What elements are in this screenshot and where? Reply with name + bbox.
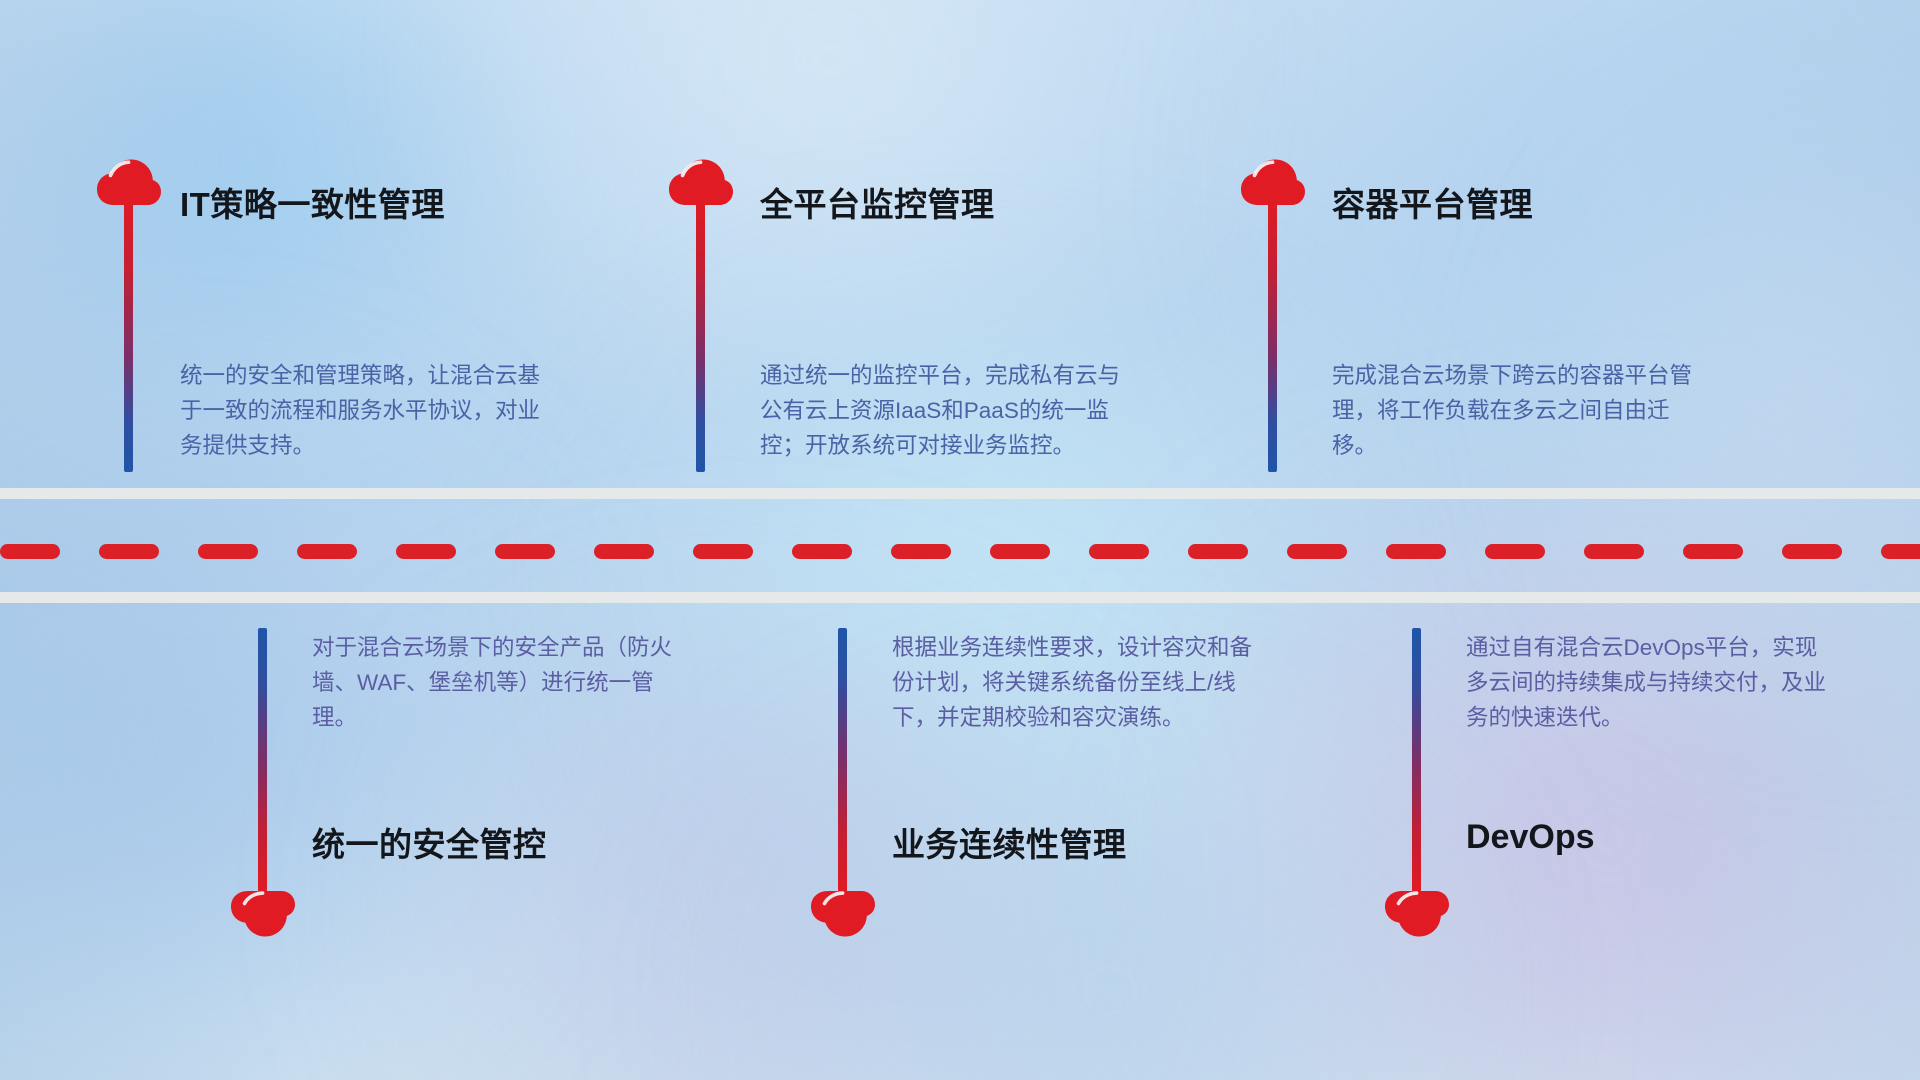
card-title: IT策略一致性管理 <box>180 178 445 226</box>
card-title: DevOps <box>1466 818 1595 857</box>
card-title: 统一的安全管控 <box>312 818 547 866</box>
connector-stem <box>1412 628 1421 892</box>
card-title: 容器平台管理 <box>1332 178 1533 226</box>
connector-stem <box>124 198 133 472</box>
card-body: 根据业务连续性要求，设计容灾和备份计划，将关键系统备份至线上/线下，并定期校验和… <box>892 630 1257 735</box>
connector-stem <box>258 628 267 892</box>
card-body: 通过统一的监控平台，完成私有云与公有云上资源IaaS和PaaS的统一监控；开放系… <box>760 358 1125 463</box>
connector-stem <box>838 628 847 892</box>
card-title: 业务连续性管理 <box>892 818 1127 866</box>
card-body: 完成混合云场景下跨云的容器平台管理，将工作负载在多云之间自由迁移。 <box>1332 358 1697 463</box>
cloud-pin-icon <box>1384 890 1450 938</box>
cloud-pin-icon <box>230 890 296 938</box>
cloud-pin-icon <box>810 890 876 938</box>
card-body: 统一的安全和管理策略，让混合云基于一致的流程和服务水平协议，对业务提供支持。 <box>180 358 545 463</box>
card-body: 通过自有混合云DevOps平台，实现多云间的持续集成与持续交付，及业务的快速迭代… <box>1466 630 1831 735</box>
connector-stem <box>1268 198 1277 472</box>
card-title: 全平台监控管理 <box>760 178 995 226</box>
card-body: 对于混合云场景下的安全产品（防火墙、WAF、堡垒机等）进行统一管理。 <box>312 630 677 735</box>
connector-stem <box>696 198 705 472</box>
